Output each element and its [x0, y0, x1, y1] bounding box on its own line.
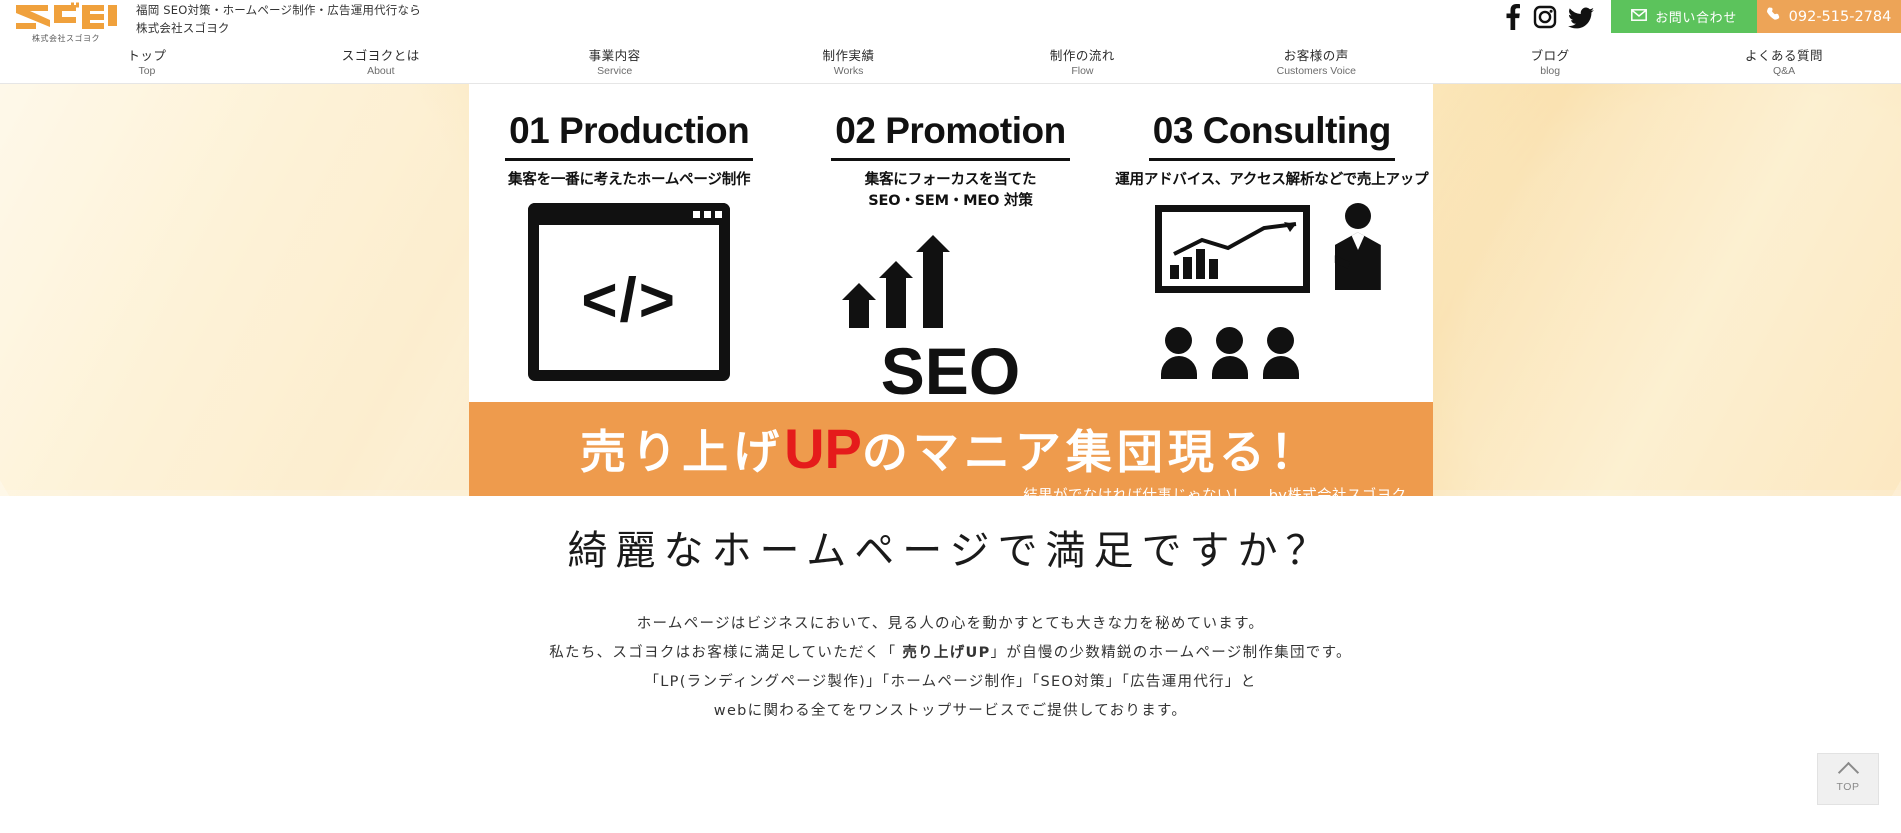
- nav-item-label-en: Service: [498, 65, 732, 78]
- nav-item-label-en: Works: [732, 65, 966, 78]
- presenter-icon: [1335, 203, 1381, 290]
- hero-column-consulting: 03 Consulting 運用アドバイス、アクセス解析などで売上アップ: [1111, 108, 1432, 402]
- strip-part-1: 売り上げ: [580, 425, 784, 479]
- nav-item-label-ja: 事業内容: [498, 48, 732, 64]
- whiteboard-icon: [1155, 205, 1310, 293]
- nav-item-label-en: blog: [1433, 65, 1667, 78]
- hero-column-subtitle: 集客を一番に考えたホームページ制作: [469, 170, 790, 191]
- strip-part-2: のマニア集団現る！: [862, 425, 1321, 479]
- page-title: 綺麗なホームページで満足ですか？: [0, 518, 1901, 576]
- logo-subtext: 株式会社スゴヨク: [14, 33, 118, 44]
- nav-item-about[interactable]: スゴヨクとは About: [264, 47, 498, 79]
- telephone-number: 092-515-2784: [1789, 9, 1892, 25]
- seo-arrows-icon: SEO: [790, 224, 1111, 404]
- hero-column-title: 02 Promotion: [831, 108, 1069, 161]
- bar-chart-icon: [1170, 249, 1218, 279]
- hero-column-subtitle: 集客にフォーカスを当てた SEO・SEM・MEO 対策: [790, 170, 1111, 212]
- window-dot: [693, 211, 700, 218]
- strip-sub-right: by株式会社スゴヨク: [1269, 488, 1407, 496]
- intro-line-2-pre: 私たち、スゴヨクはお客様に満足していただく「: [549, 645, 902, 661]
- scroll-to-top-button[interactable]: TOP: [1817, 753, 1879, 805]
- intro-line-2-bold: 売り上げUP: [902, 645, 990, 661]
- hero-strip-subline: 結果がでなければ仕事じゃない！by株式会社スゴヨク: [469, 484, 1433, 496]
- hero-columns: 01 Production 集客を一番に考えたホームページ制作 </>: [469, 84, 1433, 402]
- nav-item-flow[interactable]: 制作の流れ Flow: [966, 47, 1200, 79]
- tagline-line-2: 株式会社スゴヨク: [136, 20, 421, 38]
- facebook-icon[interactable]: [1503, 4, 1522, 30]
- header-bar: 株式会社スゴヨク 福岡 SEO対策・ホームページ制作・広告運用代行なら 株式会社…: [0, 0, 1901, 42]
- hero-subtitle-line-2: SEO・SEM・MEO 対策: [790, 191, 1111, 212]
- strip-highlight-up: UP: [784, 417, 862, 480]
- audience-icon: [1161, 327, 1299, 379]
- social-links: [1503, 4, 1611, 30]
- strip-sub-left: 結果がでなければ仕事じゃない！: [1023, 488, 1247, 496]
- intro-line-3: 「LP(ランディングページ製作)」「ホームページ制作」「SEO対策」「広告運用代…: [0, 668, 1901, 697]
- header-actions: お問い合わせ 092-515-2784: [1503, 0, 1901, 33]
- contact-button[interactable]: お問い合わせ: [1611, 0, 1757, 33]
- intro-line-2-post: 」が自慢の少数精鋭のホームページ制作集団です。: [991, 645, 1352, 661]
- intro-line-1: ホームページはビジネスにおいて、見る人の心を動かすとても大きな力を秘めています。: [0, 610, 1901, 639]
- nav-item-label-en: Top: [30, 65, 264, 78]
- growth-arrows-icon: [849, 250, 943, 328]
- intro-section: 綺麗なホームページで満足ですか？ ホームページはビジネスにおいて、見る人の心を動…: [0, 496, 1901, 726]
- nav-item-label-en: Customers Voice: [1199, 65, 1433, 78]
- nav-item-qa[interactable]: よくある質問 Q&A: [1667, 47, 1901, 79]
- nav-item-top[interactable]: トップ Top: [30, 47, 264, 79]
- nav-item-label-ja: 制作の流れ: [966, 48, 1200, 64]
- nav-item-label-ja: スゴヨクとは: [264, 48, 498, 64]
- chevron-up-icon: [1837, 762, 1858, 783]
- telephone-button[interactable]: 092-515-2784: [1757, 0, 1901, 33]
- site-tagline: 福岡 SEO対策・ホームページ制作・広告運用代行なら 株式会社スゴヨク: [136, 0, 421, 38]
- window-dot: [704, 211, 711, 218]
- intro-line-2: 私たち、スゴヨクはお客様に満足していただく「 売り上げUP」が自慢の少数精鋭のホ…: [0, 639, 1901, 668]
- main-navigation: トップ Top スゴヨクとは About 事業内容 Service 制作実績 W…: [0, 42, 1901, 84]
- hero-column-title: 03 Consulting: [1149, 108, 1395, 161]
- hero-strip-headline: 売り上げUPのマニア集団現る！: [469, 402, 1433, 477]
- mail-icon: [1631, 9, 1647, 25]
- nav-item-blog[interactable]: ブログ blog: [1433, 47, 1667, 79]
- hero-card: 01 Production 集客を一番に考えたホームページ制作 </>: [469, 84, 1433, 496]
- site-logo[interactable]: 株式会社スゴヨク: [0, 0, 118, 44]
- arrow-large: [923, 250, 943, 328]
- nav-item-label-ja: よくある質問: [1667, 48, 1901, 64]
- nav-item-label-en: About: [264, 65, 498, 78]
- nav-item-label-ja: 制作実績: [732, 48, 966, 64]
- nav-item-label-en: Flow: [966, 65, 1200, 78]
- hero-banner: 01 Production 集客を一番に考えたホームページ制作 </>: [0, 84, 1901, 496]
- code-window-icon: </>: [469, 203, 790, 383]
- hero-column-production: 01 Production 集客を一番に考えたホームページ制作 </>: [469, 108, 790, 402]
- twitter-icon[interactable]: [1568, 4, 1594, 30]
- instagram-icon[interactable]: [1533, 4, 1557, 30]
- logo-mark-icon: [14, 2, 118, 32]
- nav-item-label-ja: トップ: [30, 48, 264, 64]
- hero-column-promotion: 02 Promotion 集客にフォーカスを当てた SEO・SEM・MEO 対策…: [790, 108, 1111, 402]
- nav-item-label-ja: お客様の声: [1199, 48, 1433, 64]
- window-dot: [715, 211, 722, 218]
- hero-column-title: 01 Production: [505, 108, 753, 161]
- nav-item-label-en: Q&A: [1667, 65, 1901, 78]
- seo-wordmark: SEO: [843, 340, 1058, 403]
- hero-subtitle-line-1: 集客にフォーカスを当てた: [790, 170, 1111, 191]
- intro-line-4: webに関わる全てをワンストップサービスでご提供しております。: [0, 697, 1901, 726]
- arrow-medium: [886, 276, 906, 328]
- nav-item-service[interactable]: 事業内容 Service: [498, 47, 732, 79]
- nav-item-label-ja: ブログ: [1433, 48, 1667, 64]
- tagline-line-1: 福岡 SEO対策・ホームページ制作・広告運用代行なら: [136, 2, 421, 20]
- hero-subtitle-line-1: 運用アドバイス、アクセス解析などで売上アップ: [1111, 170, 1432, 191]
- arrow-small: [849, 298, 869, 328]
- phone-icon: [1767, 7, 1781, 27]
- intro-paragraph: ホームページはビジネスにおいて、見る人の心を動かすとても大きな力を秘めています。…: [0, 610, 1901, 726]
- hero-column-subtitle: 運用アドバイス、アクセス解析などで売上アップ: [1111, 170, 1432, 191]
- presentation-icon: [1111, 203, 1432, 383]
- hero-strip-banner: 売り上げUPのマニア集団現る！ 結果がでなければ仕事じゃない！by株式会社スゴヨ…: [469, 402, 1433, 496]
- hero-subtitle-line-1: 集客を一番に考えたホームページ制作: [469, 170, 790, 191]
- nav-item-works[interactable]: 制作実績 Works: [732, 47, 966, 79]
- code-glyph: </>: [581, 265, 677, 336]
- nav-item-customers-voice[interactable]: お客様の声 Customers Voice: [1199, 47, 1433, 79]
- contact-button-label: お問い合わせ: [1655, 7, 1737, 26]
